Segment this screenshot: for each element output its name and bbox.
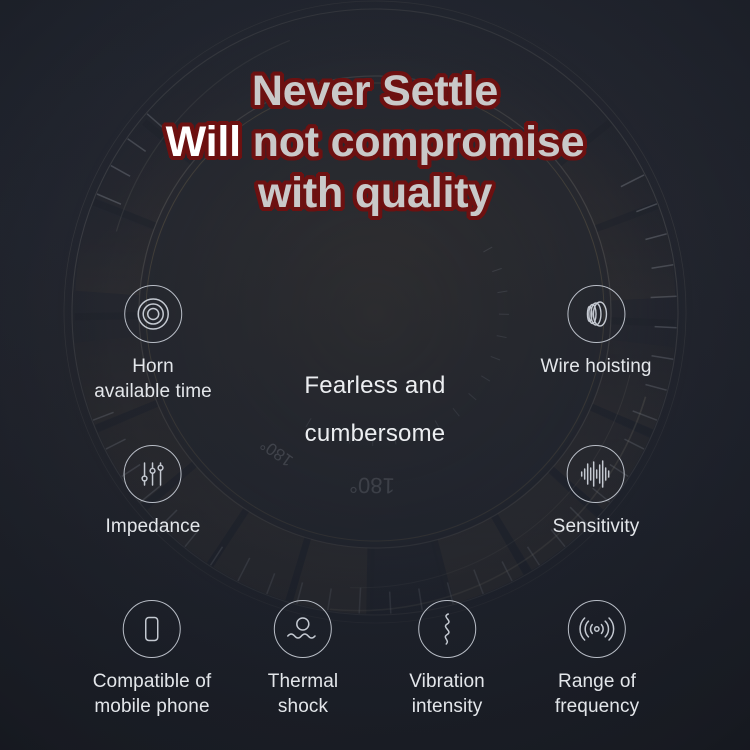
feature-vibration-intensity[interactable]: Vibration intensity: [409, 600, 485, 719]
feature-label: Horn available time: [94, 354, 212, 404]
center-caption: Fearless and cumbersome: [304, 362, 445, 458]
equalizer-sliders-icon: [124, 445, 182, 503]
feature-thermal-shock[interactable]: Thermal shock: [268, 600, 338, 719]
feature-label: Wire hoisting: [540, 354, 651, 379]
concentric-circles-icon: [124, 285, 182, 343]
feature-wire-hoisting[interactable]: Wire hoisting: [540, 285, 651, 379]
zigzag-vibration-icon: [418, 600, 476, 658]
feature-label: Vibration intensity: [409, 669, 485, 719]
broadcast-signal-icon: [568, 600, 626, 658]
headline-line-2-rest: not compromise: [241, 118, 584, 166]
headline-accent-word: Will: [166, 118, 241, 166]
feature-label: Compatible of mobile phone: [93, 669, 212, 719]
headline-line-1: Never Settle: [0, 66, 750, 117]
cable-coil-icon: [567, 285, 625, 343]
headline-line-3: with quality: [0, 168, 750, 219]
feature-label: Impedance: [106, 514, 201, 539]
headline-line-2: Will not compromise: [0, 117, 750, 168]
feature-sensitivity[interactable]: Sensitivity: [553, 445, 640, 539]
gauge-label-right: 180°: [257, 435, 297, 471]
product-feature-banner: 180° 180° Never Settle Will not compromi…: [0, 0, 750, 750]
feature-range-of-frequency[interactable]: Range of frequency: [555, 600, 639, 719]
headline-block: Never Settle Will not compromise with qu…: [0, 66, 750, 219]
feature-label: Sensitivity: [553, 514, 640, 539]
sun-over-waves-icon: [274, 600, 332, 658]
feature-label: Range of frequency: [555, 669, 639, 719]
feature-horn-available-time[interactable]: Horn available time: [94, 285, 212, 404]
feature-impedance[interactable]: Impedance: [106, 445, 201, 539]
gauge-label-left: 180°: [349, 473, 395, 499]
feature-compatible-mobile-phone[interactable]: Compatible of mobile phone: [93, 600, 212, 719]
feature-label: Thermal shock: [268, 669, 338, 719]
audio-waveform-icon: [567, 445, 625, 503]
mobile-phone-icon: [123, 600, 181, 658]
